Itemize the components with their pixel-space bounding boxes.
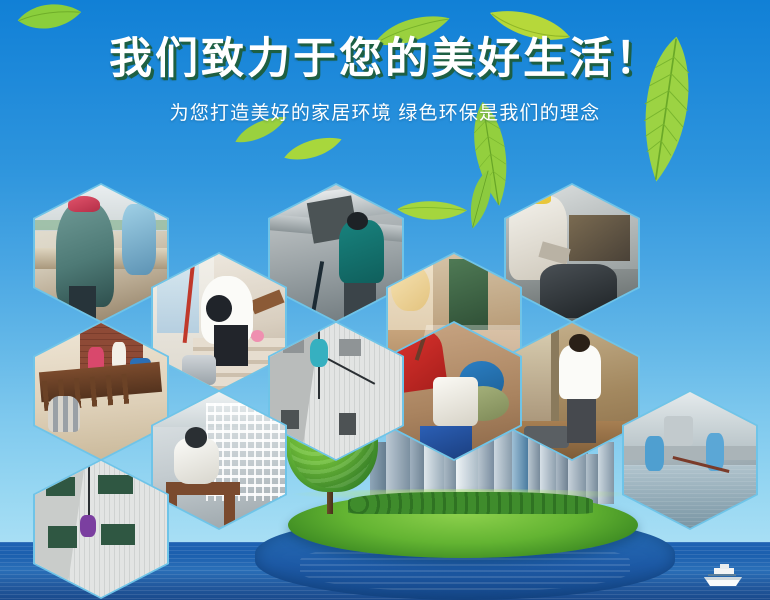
- photo-stair-mopping: [153, 254, 285, 390]
- photo-rooftop-team-cleaning: [624, 392, 756, 528]
- page-subtitle: 为您打造美好的家居环境 绿色环保是我们的理念: [0, 98, 770, 125]
- photo-kitchen-hood-degreasing: [506, 185, 638, 321]
- hex-photo-ceiling-duct-cleaning[interactable]: [268, 183, 404, 323]
- photo-building-facade-descent: [35, 461, 167, 597]
- photo-ceiling-duct-cleaning: [270, 185, 402, 321]
- photo-chandelier-high-altitude: [153, 392, 285, 528]
- hex-photo-worker-window-renovation[interactable]: [33, 183, 169, 323]
- photo-handrail-bench-maintenance: [35, 323, 167, 459]
- hex-photo-rooftop-team-cleaning[interactable]: [622, 390, 758, 530]
- hex-photo-building-facade-descent[interactable]: [33, 459, 169, 599]
- photo-office-corridor-cleaning: [506, 323, 638, 459]
- hex-photo-stair-mopping[interactable]: [151, 252, 287, 392]
- banner-stage: 我们致力于您的美好生活！ 为您打造美好的家居环境 绿色环保是我们的理念: [0, 0, 770, 600]
- hexagon-photo-grid: [0, 0, 770, 600]
- photo-worker-window-renovation: [35, 185, 167, 321]
- hex-photo-handrail-bench-maintenance[interactable]: [33, 321, 169, 461]
- hex-photo-chandelier-high-altitude[interactable]: [151, 390, 287, 530]
- photo-facade-rope-access: [270, 323, 402, 459]
- page-title: 我们致力于您的美好生活！: [0, 36, 770, 82]
- hex-photo-kitchen-hood-degreasing[interactable]: [504, 183, 640, 323]
- hex-photo-facade-rope-access[interactable]: [268, 321, 404, 461]
- hex-photo-office-corridor-cleaning[interactable]: [504, 321, 640, 461]
